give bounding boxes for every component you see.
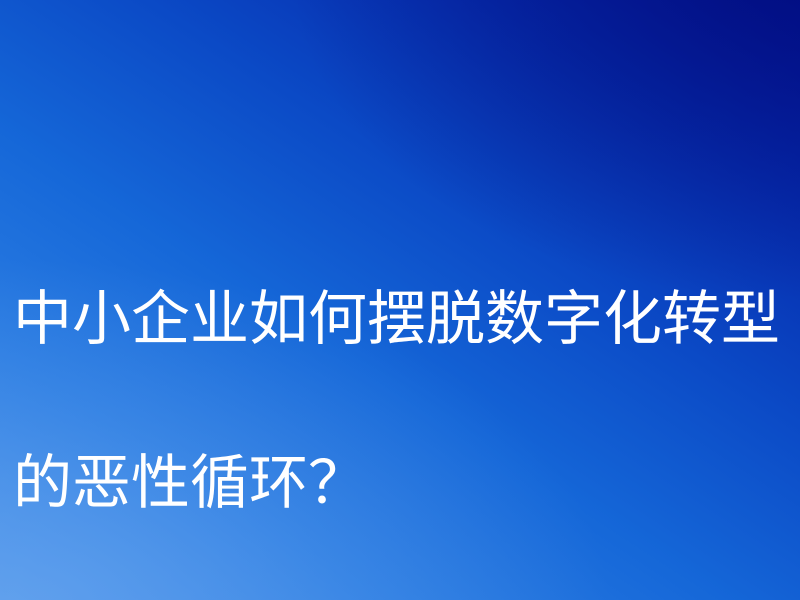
article-title-card: 中小企业如何摆脱数字化转型 的恶性循环？ <box>0 0 800 600</box>
headline-title: 中小企业如何摆脱数字化转型 的恶性循环？ <box>13 196 799 600</box>
headline-line-2: 的恶性循环？ <box>13 442 799 524</box>
headline-line-1: 中小企业如何摆脱数字化转型 <box>13 278 799 360</box>
